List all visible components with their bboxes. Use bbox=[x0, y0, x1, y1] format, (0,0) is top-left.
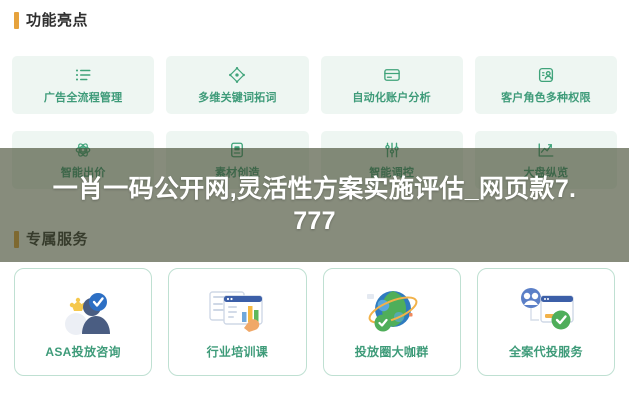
feature-card-market-overview[interactable]: 大盘纵览 bbox=[475, 131, 617, 189]
feature-row-2: 智能出价 素材创造 bbox=[0, 131, 629, 189]
feature-label: 大盘纵览 bbox=[523, 164, 568, 180]
user-permission-icon bbox=[537, 66, 555, 84]
card-wallet-icon bbox=[383, 66, 401, 84]
service-card-full-agency[interactable]: 全案代投服务 bbox=[477, 268, 615, 376]
page-root: 功能亮点 广告全流程管理 bbox=[0, 0, 629, 400]
feature-card-ad-process[interactable]: 广告全流程管理 bbox=[12, 56, 154, 114]
feature-card-smart-control[interactable]: 智能调控 bbox=[321, 131, 463, 189]
network-node-icon bbox=[228, 66, 246, 84]
page-title: 功能亮点 bbox=[26, 13, 88, 28]
feature-card-smart-bidding[interactable]: 智能出价 bbox=[12, 131, 154, 189]
service-label: 投放圈大咖群 bbox=[355, 343, 429, 360]
molecule-icon bbox=[74, 141, 92, 159]
feature-card-role-permission[interactable]: 客户角色多种权限 bbox=[475, 56, 617, 114]
list-checklist-icon bbox=[74, 66, 92, 84]
section-header-features: 功能亮点 bbox=[0, 12, 88, 29]
feature-label: 客户角色多种权限 bbox=[501, 89, 591, 105]
sliders-icon bbox=[383, 141, 401, 159]
feature-card-account-analysis[interactable]: 自动化账户分析 bbox=[321, 56, 463, 114]
service-label: 全案代投服务 bbox=[509, 343, 583, 360]
section-title: 专属服务 bbox=[26, 232, 88, 247]
feature-grid-2: 智能出价 素材创造 bbox=[0, 131, 629, 189]
feature-grid-1: 广告全流程管理 多维关键词拓词 bbox=[0, 56, 629, 114]
feature-row-1: 广告全流程管理 多维关键词拓词 bbox=[0, 56, 629, 114]
chart-trend-icon bbox=[537, 141, 555, 159]
feature-label: 自动化账户分析 bbox=[352, 89, 430, 105]
feature-card-creative-material[interactable]: 素材创造 bbox=[166, 131, 308, 189]
service-row: ASA投放咨询 bbox=[0, 268, 629, 376]
feature-card-keyword-expand[interactable]: 多维关键词拓词 bbox=[166, 56, 308, 114]
feature-label: 多维关键词拓词 bbox=[198, 89, 276, 105]
feature-label: 素材创造 bbox=[215, 164, 260, 180]
service-grid: ASA投放咨询 bbox=[0, 268, 629, 376]
globe-community-illustration bbox=[361, 284, 423, 336]
media-file-icon bbox=[228, 141, 246, 159]
consultant-badge-illustration bbox=[52, 284, 114, 336]
service-label: 行业培训课 bbox=[207, 343, 269, 360]
feature-label: 智能出价 bbox=[61, 164, 106, 180]
training-dashboard-illustration bbox=[206, 284, 268, 336]
accent-bar-icon bbox=[14, 231, 19, 248]
service-card-community-group[interactable]: 投放圈大咖群 bbox=[323, 268, 461, 376]
agency-service-illustration bbox=[515, 284, 577, 336]
feature-label: 广告全流程管理 bbox=[44, 89, 122, 105]
service-card-industry-training[interactable]: 行业培训课 bbox=[168, 268, 306, 376]
service-label: ASA投放咨询 bbox=[45, 343, 120, 360]
service-card-asa-consult[interactable]: ASA投放咨询 bbox=[14, 268, 152, 376]
accent-bar-icon bbox=[14, 12, 19, 29]
feature-label: 智能调控 bbox=[369, 164, 414, 180]
section-header-services: 专属服务 bbox=[0, 231, 88, 248]
